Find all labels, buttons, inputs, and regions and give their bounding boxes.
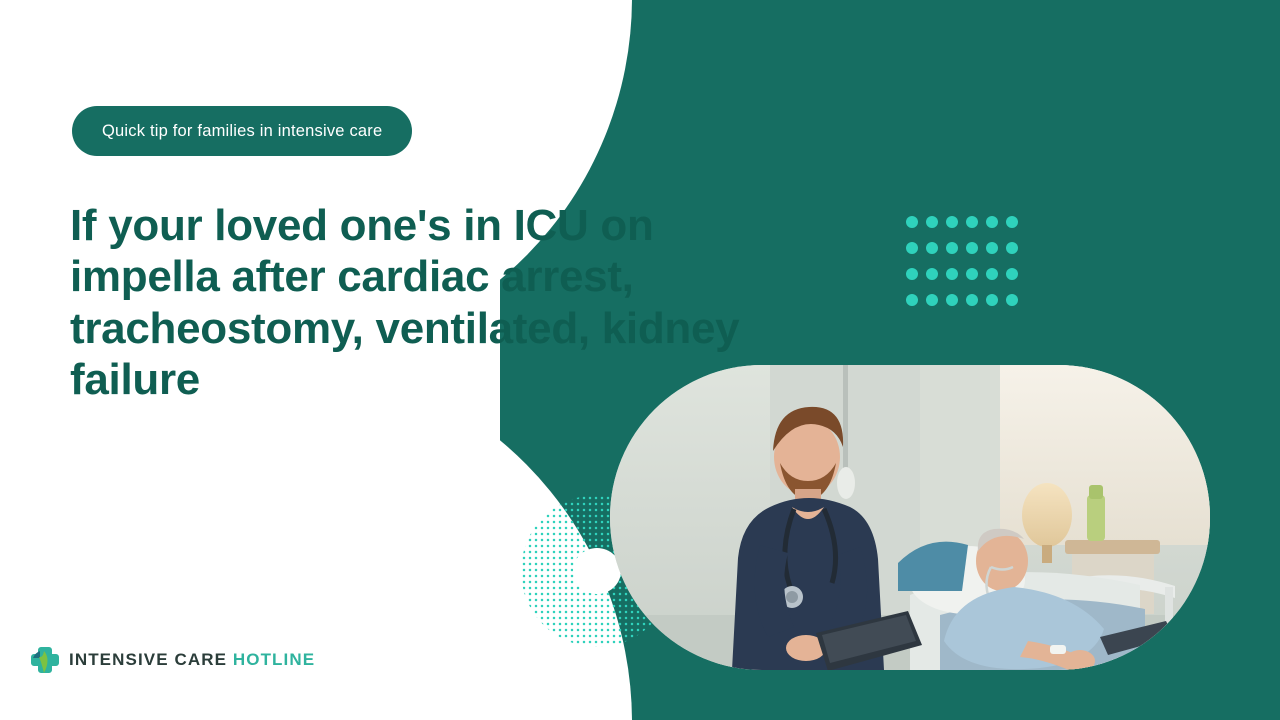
grid-dot [966, 242, 978, 254]
grid-dot [1006, 268, 1018, 280]
grid-dot [906, 242, 918, 254]
grid-dot [926, 268, 938, 280]
medical-cross-logo-icon [30, 645, 60, 675]
grid-dot [926, 242, 938, 254]
brand-logo-text: INTENSIVE CARE HOTLINE [69, 650, 315, 670]
grid-dot [946, 216, 958, 228]
grid-dot [1006, 242, 1018, 254]
brand-name-accent: HOTLINE [233, 650, 315, 669]
grid-dot [986, 216, 998, 228]
grid-dot [986, 268, 998, 280]
slide-canvas: Quick tip for families in intensive care… [0, 0, 1280, 720]
grid-dot [926, 294, 938, 306]
grid-dot [1006, 294, 1018, 306]
grid-dot [966, 216, 978, 228]
grid-dot [986, 242, 998, 254]
grid-dot [986, 294, 998, 306]
grid-dot [906, 294, 918, 306]
brand-name-primary: INTENSIVE CARE [69, 650, 227, 669]
hero-photo [610, 365, 1210, 670]
dot-grid-decoration [906, 216, 1026, 320]
grid-dot [946, 242, 958, 254]
brand-logo: INTENSIVE CARE HOTLINE [30, 645, 315, 675]
grid-dot [906, 268, 918, 280]
page-title: If your loved one's in ICU on impella af… [70, 200, 770, 406]
grid-dot [926, 216, 938, 228]
grid-dot [946, 268, 958, 280]
eyebrow-label: Quick tip for families in intensive care [102, 122, 382, 141]
eyebrow-pill: Quick tip for families in intensive care [72, 106, 412, 156]
grid-dot [966, 268, 978, 280]
grid-dot [1006, 216, 1018, 228]
grid-dot [966, 294, 978, 306]
grid-dot [906, 216, 918, 228]
grid-dot [946, 294, 958, 306]
